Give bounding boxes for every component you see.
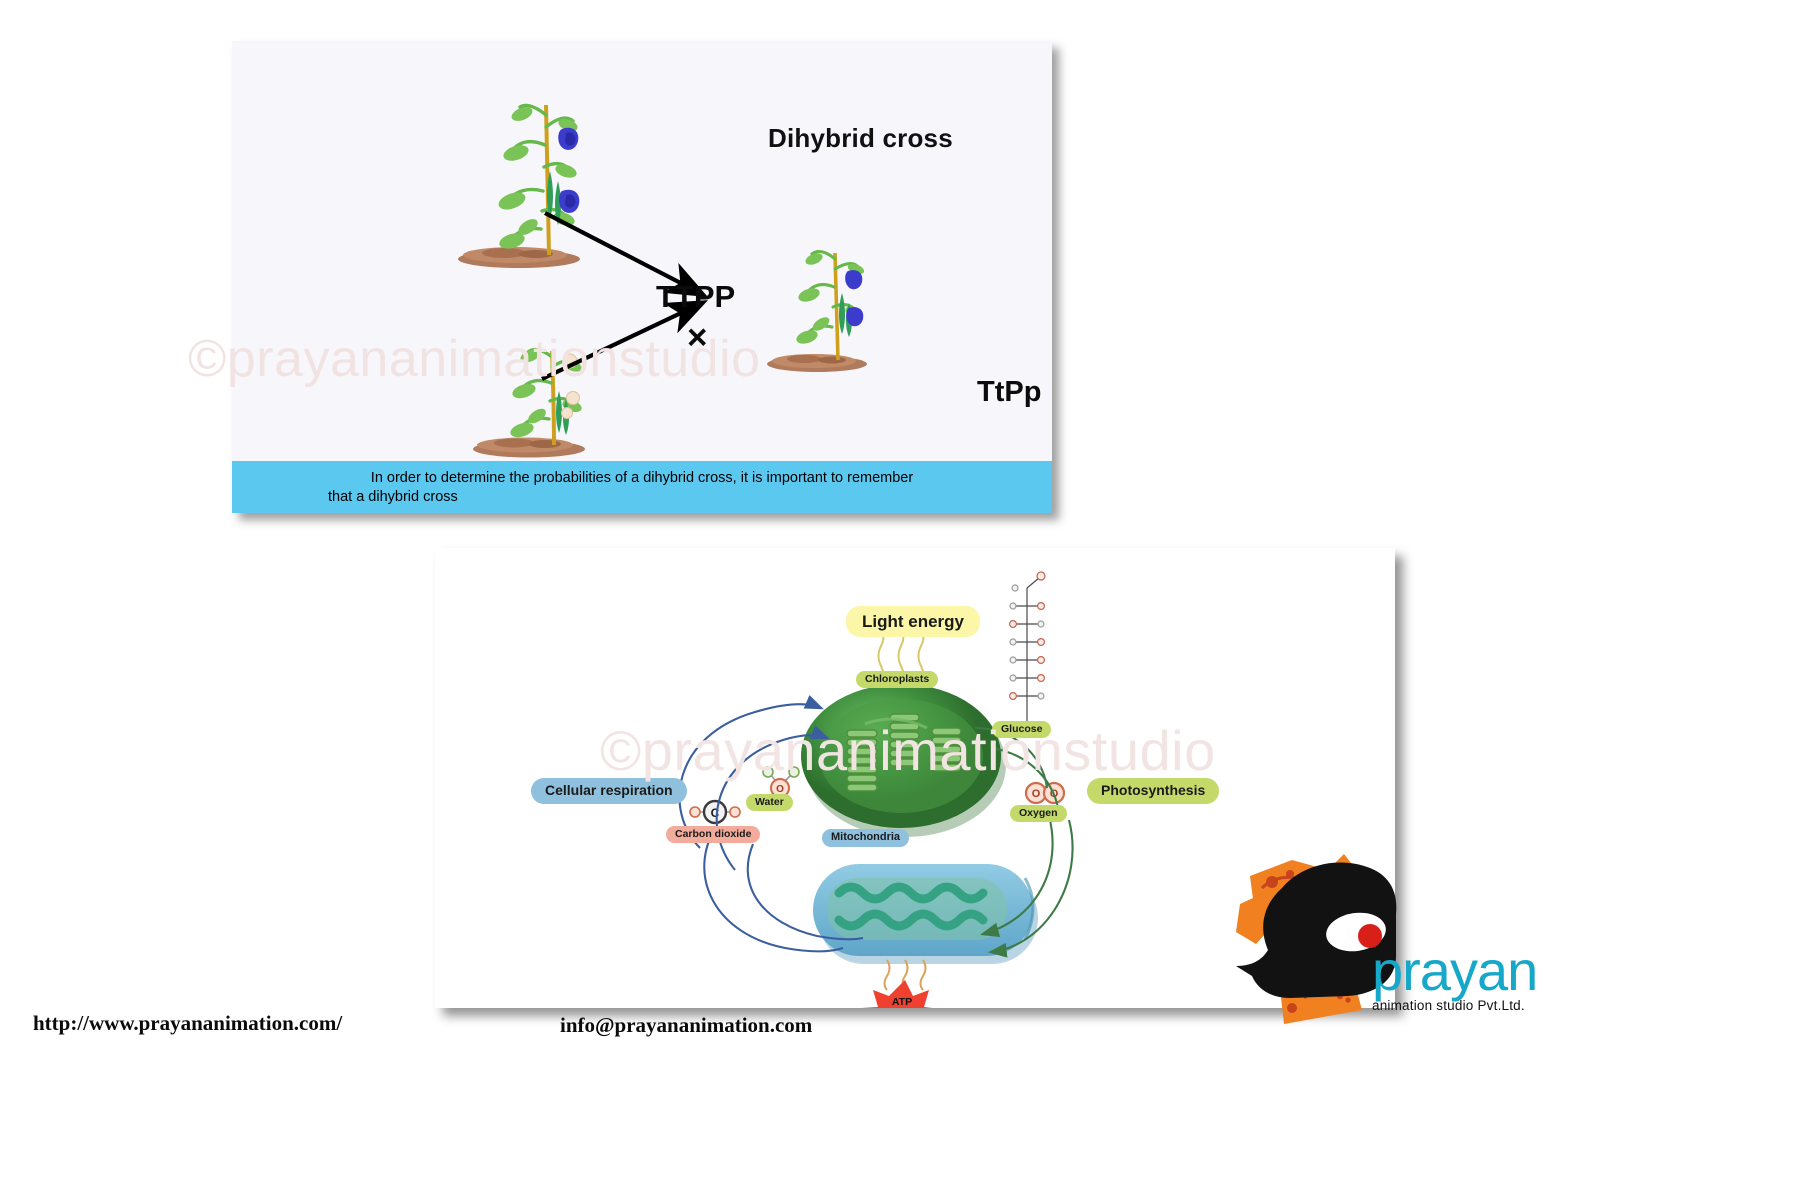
slide-title: Dihybrid cross xyxy=(768,123,953,154)
caption-line-2: that a dihybrid cross xyxy=(232,488,1052,507)
photosynthesis-label: Photosynthesis xyxy=(1087,778,1219,804)
caption-line-1: In order to determine the probabilities … xyxy=(232,469,1052,488)
footer-email-link[interactable]: info@prayananimation.com xyxy=(560,1013,812,1038)
svg-text:O: O xyxy=(1032,788,1041,800)
slide-caption-bar: In order to determine the probabilities … xyxy=(232,461,1052,513)
screenshot-root: Dihybrid cross TTPP × ttpp TtPp In order… xyxy=(0,0,1800,1200)
chloroplasts-label: Chloroplasts xyxy=(856,671,938,688)
mitochondria-label: Mitochondria xyxy=(822,829,909,847)
prayan-logo-text: prayan animation studio Pvt.Ltd. xyxy=(1372,945,1537,1013)
water-molecule: O xyxy=(763,767,799,797)
footer-website-link[interactable]: http://www.prayananimation.com/ xyxy=(33,1011,342,1036)
carbon-dioxide-molecule: C xyxy=(690,801,740,823)
atp-energy-label: ATP energy xyxy=(865,997,939,1008)
parent-1-genotype-label: TTPP xyxy=(656,279,735,315)
offspring-plant-tall-purple xyxy=(767,251,867,372)
dihybrid-cross-illustration xyxy=(232,41,1052,513)
oxygen-molecule: O O xyxy=(1026,783,1064,803)
glucose-molecule-structure xyxy=(1010,572,1045,729)
atp-line-2: energy xyxy=(885,1008,919,1009)
cellular-respiration-label: Cellular respiration xyxy=(531,778,687,804)
glucose-label: Glucose xyxy=(992,721,1051,738)
parent-plant-1-tall-purple xyxy=(458,104,580,268)
oxygen-label: Oxygen xyxy=(1010,805,1067,822)
logo-wordmark: prayan xyxy=(1372,945,1537,997)
parent-plant-2-short-white xyxy=(473,347,585,457)
carbon-dioxide-label: Carbon dioxide xyxy=(666,826,760,843)
offspring-genotype-label: TtPp xyxy=(977,376,1041,409)
dihybrid-cross-slide: Dihybrid cross TTPP × ttpp TtPp In order… xyxy=(232,41,1052,513)
atp-energy-text-group: ATP energy xyxy=(865,975,939,1008)
light-energy-label: Light energy xyxy=(846,606,980,637)
atp-line-1: ATP xyxy=(892,996,912,1008)
logo-tagline: animation studio Pvt.Ltd. xyxy=(1372,998,1537,1013)
water-label: Water xyxy=(746,794,793,811)
chloroplast-organelle xyxy=(801,684,1006,837)
cross-symbol: × xyxy=(687,318,707,358)
